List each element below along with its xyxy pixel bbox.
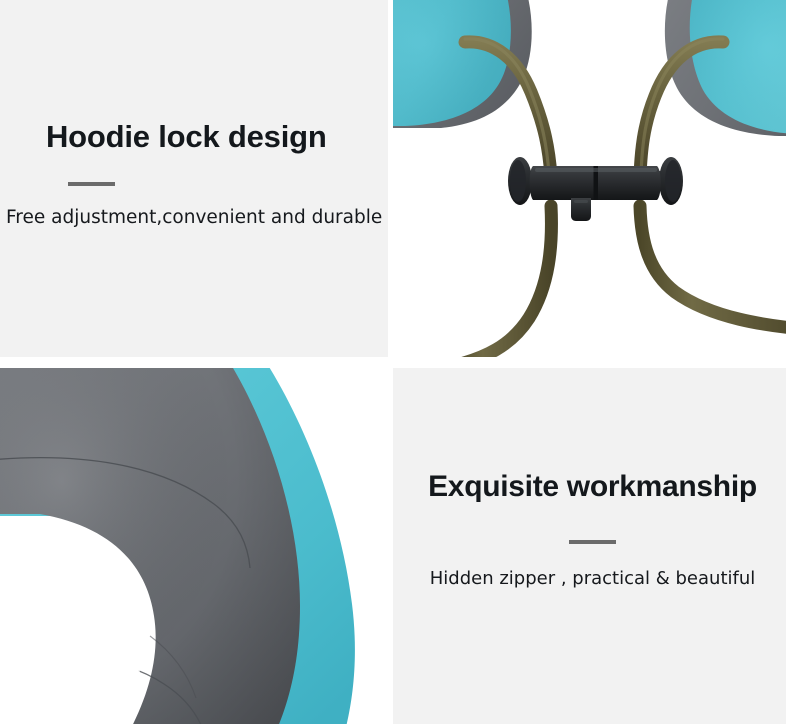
hoodie-lock-photo	[393, 0, 786, 357]
zipper-heading: Exquisite workmanship	[411, 468, 774, 506]
hoodie-copy-block: Hoodie lock design Free adjustment,conve…	[0, 118, 388, 231]
panel-hidden-zipper-photo	[0, 368, 386, 724]
panel-hoodie-lock-text: Hoodie lock design Free adjustment,conve…	[0, 0, 388, 357]
hoodie-subheading: Free adjustment,convenient and durable	[6, 186, 378, 231]
product-feature-grid: Hoodie lock design Free adjustment,conve…	[0, 0, 786, 724]
zipper-subheading: Hidden zipper , practical & beautiful	[411, 544, 774, 592]
hidden-zipper-photo	[0, 368, 386, 724]
panel-hidden-zipper-text: Exquisite workmanship Hidden zipper , pr…	[393, 368, 786, 724]
hoodie-heading: Hoodie lock design	[46, 118, 378, 156]
panel-hoodie-lock-photo	[393, 0, 786, 357]
zipper-copy-block: Exquisite workmanship Hidden zipper , pr…	[393, 468, 786, 592]
